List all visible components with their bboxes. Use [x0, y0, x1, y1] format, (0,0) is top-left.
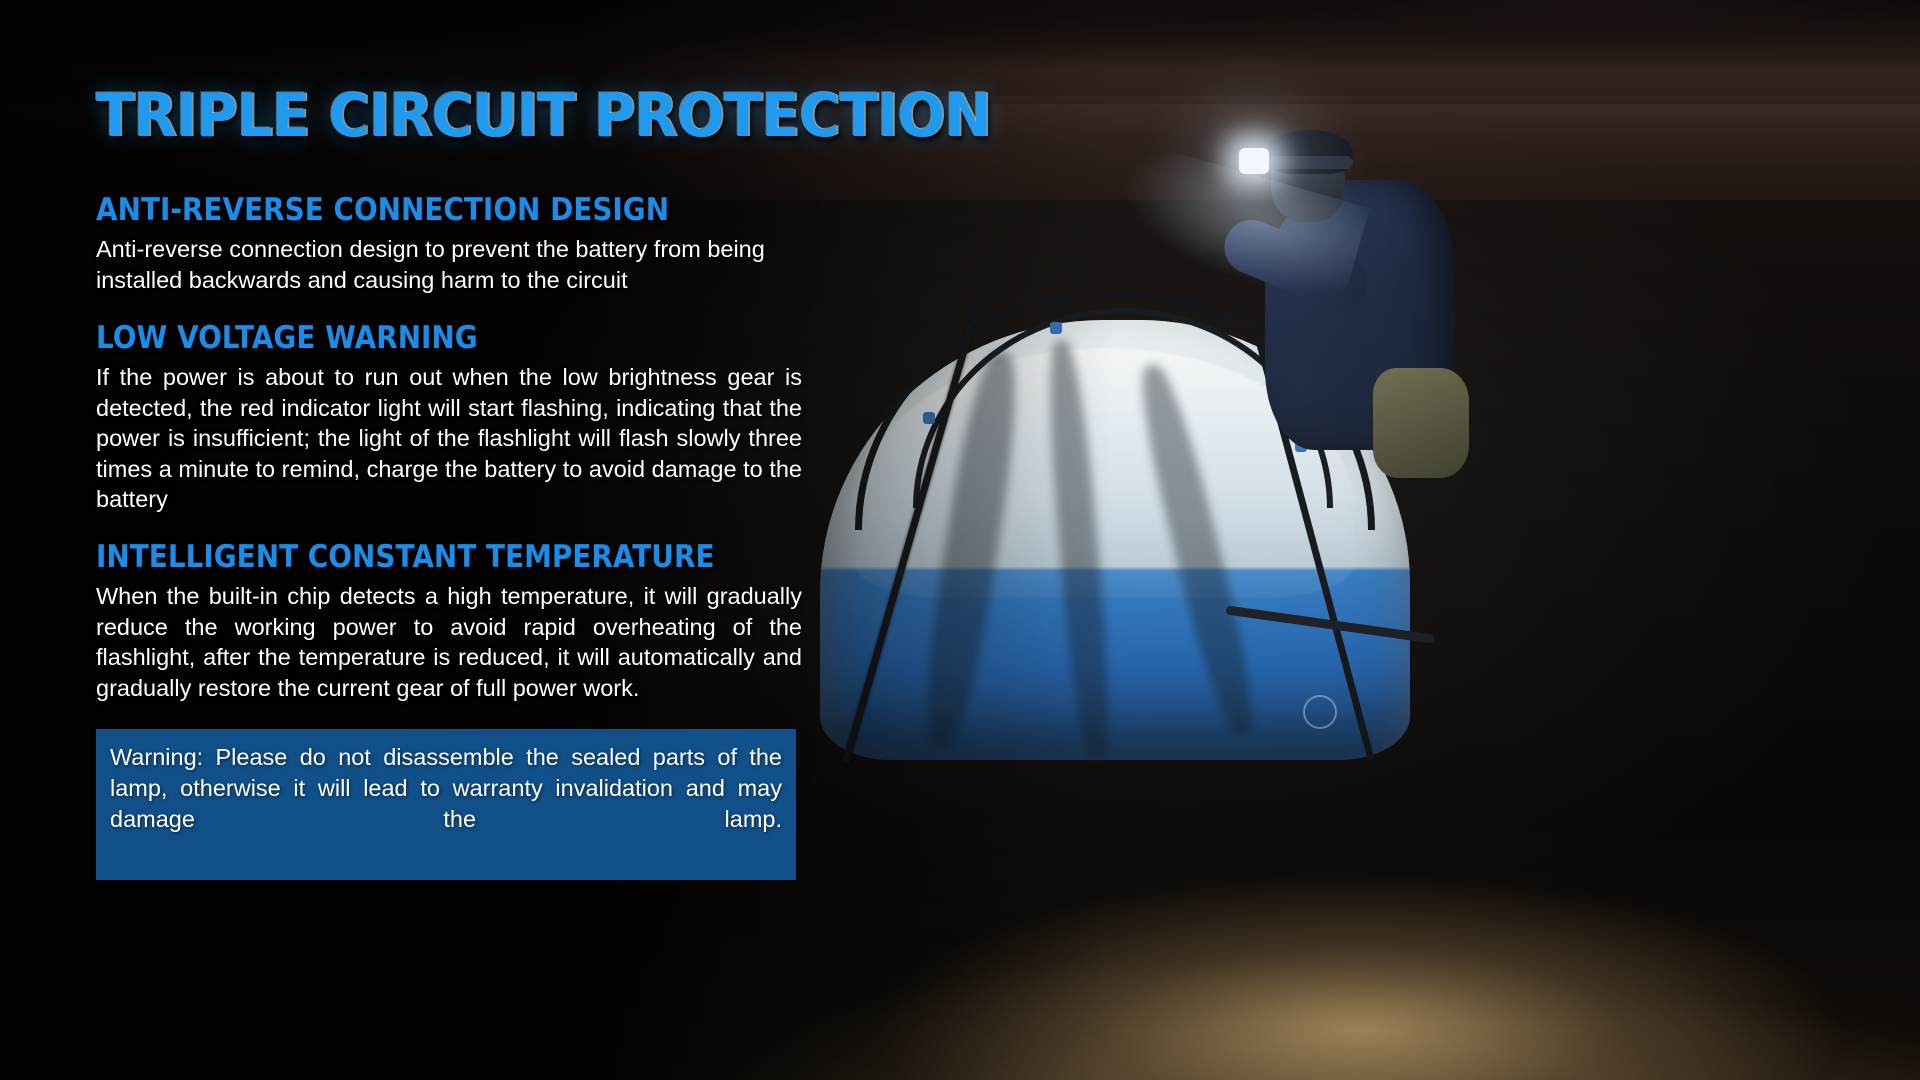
page-title: TRIPLE CIRCUIT PROTECTION — [96, 86, 753, 146]
warning-box: Warning: Please do not disassemble the s… — [96, 729, 796, 879]
section-title-anti-reverse: ANTI-REVERSE CONNECTION DESIGN — [96, 194, 731, 227]
feature-section-constant-temperature: INTELLIGENT CONSTANT TEMPERATURE When th… — [96, 541, 802, 704]
section-body-anti-reverse: Anti-reverse connection design to preven… — [96, 234, 802, 295]
section-body-low-voltage: If the power is about to run out when th… — [96, 362, 802, 515]
feature-section-low-voltage: LOW VOLTAGE WARNING If the power is abou… — [96, 322, 802, 515]
text-column: TRIPLE CIRCUIT PROTECTION ANTI-REVERSE C… — [96, 86, 802, 880]
section-title-low-voltage: LOW VOLTAGE WARNING — [96, 322, 731, 355]
feature-section-anti-reverse: ANTI-REVERSE CONNECTION DESIGN Anti-reve… — [96, 194, 802, 296]
section-title-constant-temperature: INTELLIGENT CONSTANT TEMPERATURE — [96, 541, 731, 574]
warning-text: Warning: Please do not disassemble the s… — [110, 742, 782, 864]
section-body-constant-temperature: When the built-in chip detects a high te… — [96, 581, 802, 703]
product-feature-poster: TRIPLE CIRCUIT PROTECTION ANTI-REVERSE C… — [0, 0, 1920, 1080]
